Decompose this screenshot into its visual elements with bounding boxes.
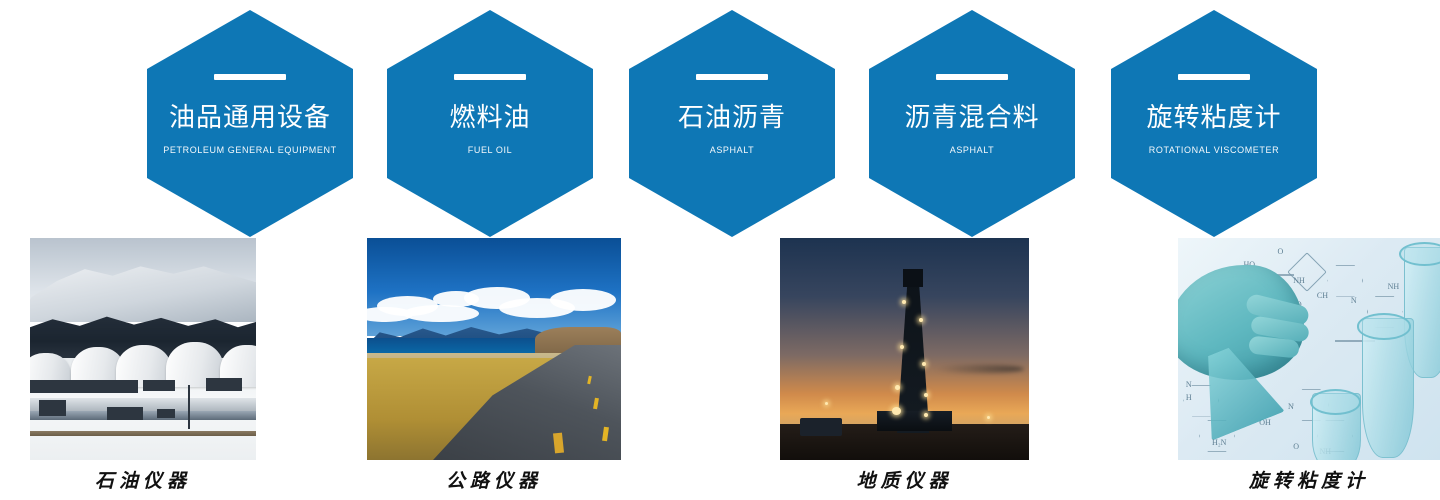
hex-subtitle: ASPHALT xyxy=(950,144,995,156)
hex-divider-rule xyxy=(936,74,1008,80)
photo-petroleum-instruments[interactable] xyxy=(30,238,256,460)
hex-subtitle: PETROLEUM GENERAL EQUIPMENT xyxy=(163,144,336,156)
photo-caption-rotational-viscometer: 旋转粘度计 xyxy=(1178,462,1440,496)
photo-caption-petroleum-instruments: 石油仪器 xyxy=(30,462,256,496)
photo-artwork-snowy-tank-farm xyxy=(30,238,256,460)
photo-artwork-highway-lake xyxy=(367,238,621,460)
hex-title: 石油沥青 xyxy=(678,102,786,132)
photo-rotational-viscometer[interactable]: HO NH O HO O CH NH N N H H₂N O NH OH N xyxy=(1178,238,1440,460)
hex-card-rotational-viscometer[interactable]: 旋转粘度计 ROTATIONAL VISCOMETER xyxy=(1111,10,1317,237)
photo-caption-geological-instruments: 地质仪器 xyxy=(780,462,1029,496)
category-showcase: 油品通用设备 PETROLEUM GENERAL EQUIPMENT 燃料油 F… xyxy=(0,0,1440,500)
hex-title: 沥青混合料 xyxy=(904,102,1039,132)
photo-geological-instruments[interactable] xyxy=(780,238,1029,460)
photo-artwork-drilling-rig-dusk xyxy=(780,238,1029,460)
hex-title: 油品通用设备 xyxy=(169,102,331,132)
hex-card-asphalt[interactable]: 石油沥青 ASPHALT xyxy=(629,10,835,237)
hex-subtitle: FUEL OIL xyxy=(468,144,512,156)
hex-divider-rule xyxy=(1178,74,1250,80)
hex-title: 旋转粘度计 xyxy=(1146,102,1281,132)
hex-divider-rule xyxy=(214,74,286,80)
hex-card-asphalt-mixture[interactable]: 沥青混合料 ASPHALT xyxy=(869,10,1075,237)
hex-card-fuel-oil[interactable]: 燃料油 FUEL OIL xyxy=(387,10,593,237)
hex-title: 燃料油 xyxy=(449,102,530,132)
hex-card-petroleum-general-equipment[interactable]: 油品通用设备 PETROLEUM GENERAL EQUIPMENT xyxy=(147,10,353,237)
hex-subtitle: ROTATIONAL VISCOMETER xyxy=(1149,144,1279,156)
photo-highway-instruments[interactable] xyxy=(367,238,621,460)
hex-subtitle: ASPHALT xyxy=(710,144,755,156)
hexagon-category-row: 油品通用设备 PETROLEUM GENERAL EQUIPMENT 燃料油 F… xyxy=(0,0,1440,238)
photo-artwork-lab-glassware-molecules: HO NH O HO O CH NH N N H H₂N O NH OH N xyxy=(1178,238,1440,460)
photo-caption-highway-instruments: 公路仪器 xyxy=(367,462,621,496)
hex-divider-rule xyxy=(454,74,526,80)
hex-divider-rule xyxy=(696,74,768,80)
